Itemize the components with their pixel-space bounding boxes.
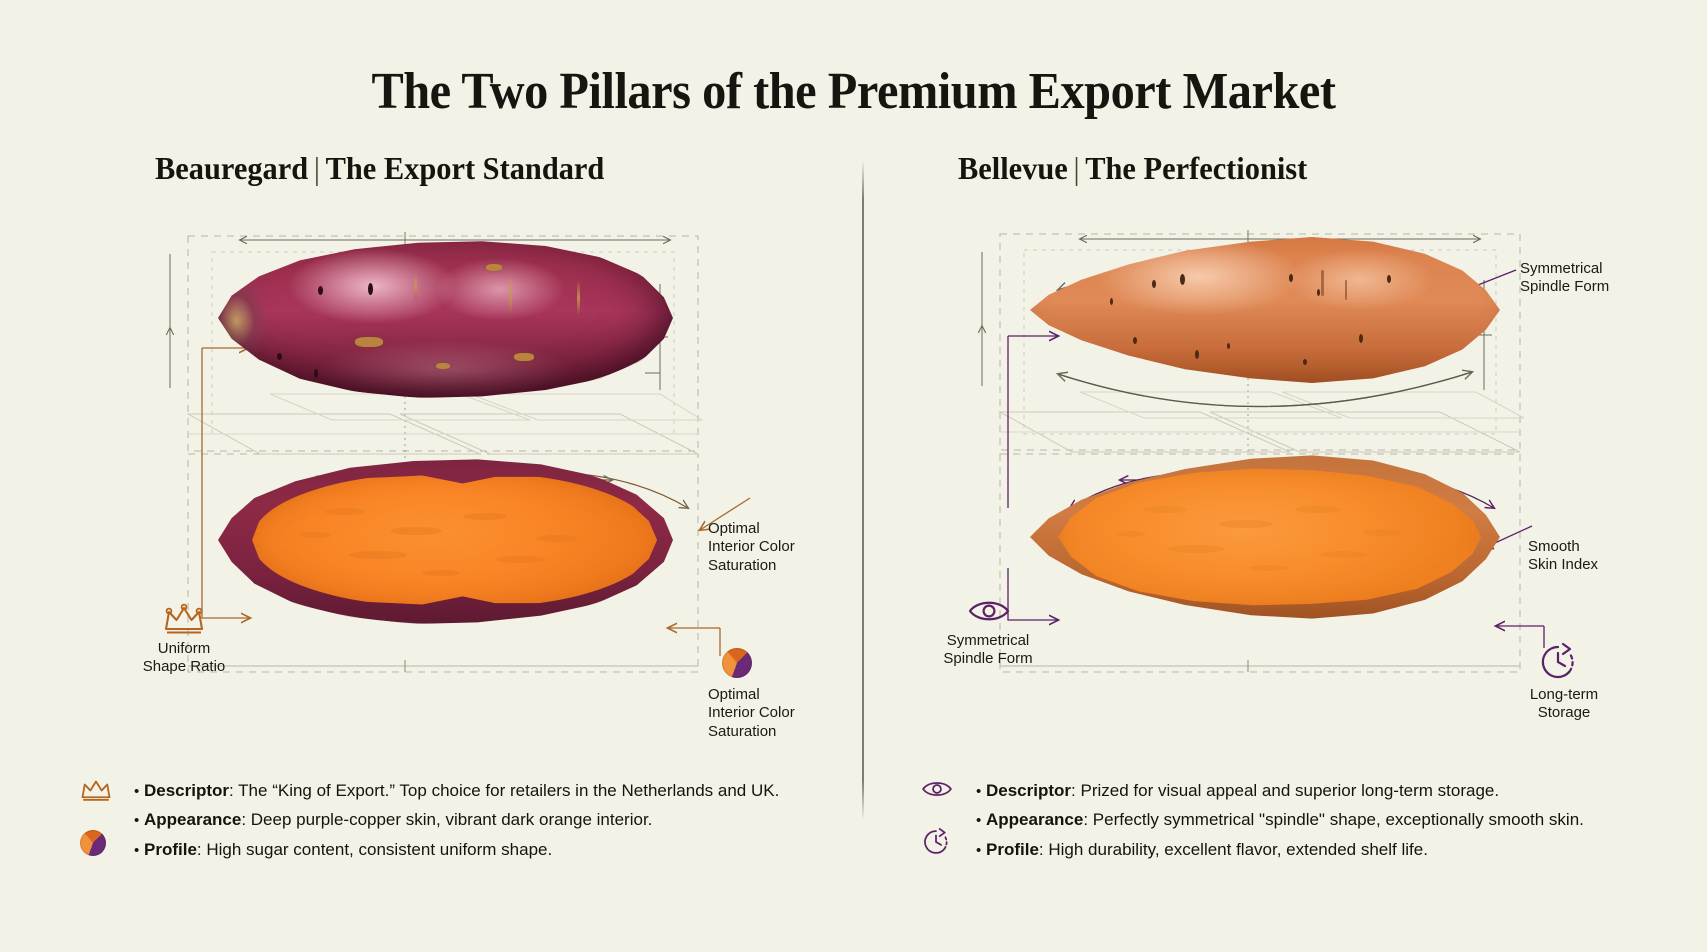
heading-separator: | [1068,150,1085,186]
list-item: • Appearance: Perfectly symmetrical "spi… [976,807,1660,833]
clock-history-icon [920,826,952,863]
palette-icon [80,830,106,856]
list-item: • Profile: High durability, excellent fl… [976,837,1660,863]
legend-term: Descriptor [986,781,1071,800]
blueprint-beauregard: Uniform Shape Ratio Optimal Interior Col… [60,208,850,688]
panel-heading-bellevue: Bellevue|The Perfectionist [958,150,1644,187]
annotation-optimal-interior-color-saturation-top: Optimal Interior Color Saturation [708,520,868,575]
bullet-icon: • [134,783,139,800]
legend-colon: : [241,810,250,829]
list-item: • Descriptor: The “King of Export.” Top … [134,778,818,804]
cultivar-name: Bellevue [958,150,1068,186]
list-item: • Appearance: Deep purple-copper skin, v… [134,807,818,833]
bullet-icon: • [134,842,139,859]
legend-term: Descriptor [144,781,229,800]
legend-term: Appearance [144,810,241,829]
legend-colon: : [1039,840,1048,859]
legend-bellevue: • Descriptor: Prized for visual appeal a… [920,778,1660,866]
legend-colon: : [1083,810,1092,829]
page-title: The Two Pillars of the Premium Export Ma… [60,62,1648,121]
beauregard-flesh [252,473,657,607]
cultivar-tagline: The Perfectionist [1085,150,1307,186]
panel-beauregard: Beauregard|The Export Standard [60,150,850,850]
annotation-long-term-storage: Long-term Storage [1508,686,1620,723]
annotation-optimal-interior-color-saturation-bottom: Optimal Interior Color Saturation [708,686,868,741]
blueprint-bellevue: Symmetrical Spindle Form Symmetrical Spi… [880,208,1680,688]
cultivar-name: Beauregard [155,150,308,186]
infographic-canvas: The Two Pillars of the Premium Export Ma… [0,0,1707,952]
bullet-icon: • [976,842,981,859]
crown-icon [78,776,114,807]
legend-colon: : [197,840,206,859]
panel-heading-beauregard: Beauregard|The Export Standard [155,150,815,187]
eye-icon [920,778,954,805]
legend-term: Profile [144,840,197,859]
legend-term: Profile [986,840,1039,859]
legend-term: Appearance [986,810,1083,829]
heading-separator: | [308,150,325,186]
legend-colon: : [229,781,238,800]
annotation-symmetrical-spindle-form-right: Symmetrical Spindle Form [1520,260,1690,297]
legend-text: Perfectly symmetrical "spindle" shape, e… [1093,810,1584,829]
bullet-icon: • [976,812,981,829]
legend-text: High durability, excellent flavor, exten… [1048,840,1428,859]
panel-bellevue: Bellevue|The Perfectionist [880,150,1680,850]
legend-rows-left: • Descriptor: The “King of Export.” Top … [134,778,818,863]
annotation-symmetrical-spindle-form-left: Symmetrical Spindle Form [900,632,1076,669]
cultivar-tagline: The Export Standard [326,150,605,186]
bullet-icon: • [134,812,139,829]
legend-rows-right: • Descriptor: Prized for visual appeal a… [976,778,1660,863]
list-item: • Descriptor: Prized for visual appeal a… [976,778,1660,804]
annotation-smooth-skin-index: Smooth Skin Index [1528,538,1688,575]
palette-icon [722,648,752,678]
legend-text: High sugar content, consistent uniform s… [206,840,552,859]
legend-text: Deep purple-copper skin, vibrant dark or… [251,810,653,829]
legend-beauregard: • Descriptor: The “King of Export.” Top … [78,778,818,866]
annotation-uniform-shape-ratio: Uniform Shape Ratio [108,640,260,677]
bellevue-flesh [1058,467,1481,606]
legend-text: Prized for visual appeal and superior lo… [1080,781,1499,800]
bullet-icon: • [976,783,981,800]
legend-text: The “King of Export.” Top choice for ret… [238,781,779,800]
list-item: • Profile: High sugar content, consisten… [134,837,818,863]
